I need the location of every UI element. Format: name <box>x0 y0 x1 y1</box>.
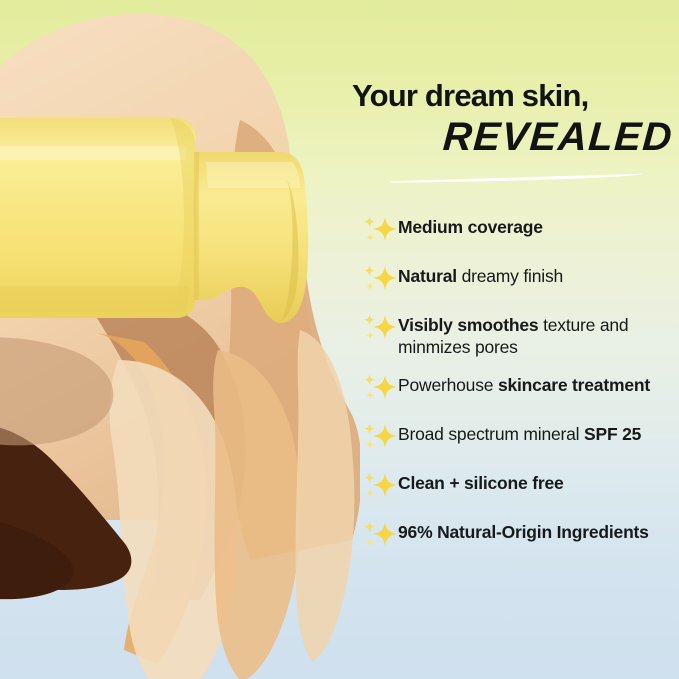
product-tube-highlight <box>0 146 186 160</box>
sparkles-icon <box>360 471 398 505</box>
swatch-pale-column <box>296 330 355 662</box>
list-item-label: Powerhouse skincare treatment <box>398 372 679 396</box>
product-tube-shade <box>0 286 190 312</box>
product-applicator-highlight <box>206 162 300 188</box>
headline: Your dream skin, REVEALED <box>352 78 679 160</box>
product-tube-seam <box>194 152 199 300</box>
list-item: Natural dreamy finish <box>360 263 679 298</box>
list-item-label: Visibly smoothes texture and minmizes po… <box>398 312 679 358</box>
list-item: Clean + silicone free <box>360 470 679 505</box>
list-item: 96% Natural-Origin Ingredients <box>360 519 679 554</box>
sparkles-icon <box>360 422 398 456</box>
headline-line-2: REVEALED <box>350 114 679 160</box>
copy-column: Your dream skin, REVEALED Medium coverag… <box>352 0 679 679</box>
sparkles-icon <box>360 313 398 347</box>
list-item-label: 96% Natural-Origin Ingredients <box>398 519 679 543</box>
sparkles-icon <box>360 373 398 407</box>
list-item: Powerhouse skincare treatment <box>360 372 679 407</box>
headline-line-1: Your dream skin, <box>352 78 679 114</box>
brush-stroke-underline-icon <box>388 173 646 183</box>
list-item: Medium coverage <box>360 214 679 249</box>
list-item-label: Clean + silicone free <box>398 470 679 494</box>
list-item: Visibly smoothes texture and minmizes po… <box>360 312 679 358</box>
sparkles-icon <box>360 520 398 554</box>
promo-graphic: Your dream skin, REVEALED Medium coverag… <box>0 0 679 679</box>
sparkles-icon <box>360 264 398 298</box>
list-item: Broad spectrum mineral SPF 25 <box>360 421 679 456</box>
list-item-label: Medium coverage <box>398 214 679 238</box>
benefits-list: Medium coverage Natural dreamy finish <box>360 214 679 568</box>
sparkles-icon <box>360 215 398 249</box>
list-item-label: Natural dreamy finish <box>398 263 679 287</box>
product-artwork <box>0 0 360 679</box>
list-item-label: Broad spectrum mineral SPF 25 <box>398 421 679 445</box>
